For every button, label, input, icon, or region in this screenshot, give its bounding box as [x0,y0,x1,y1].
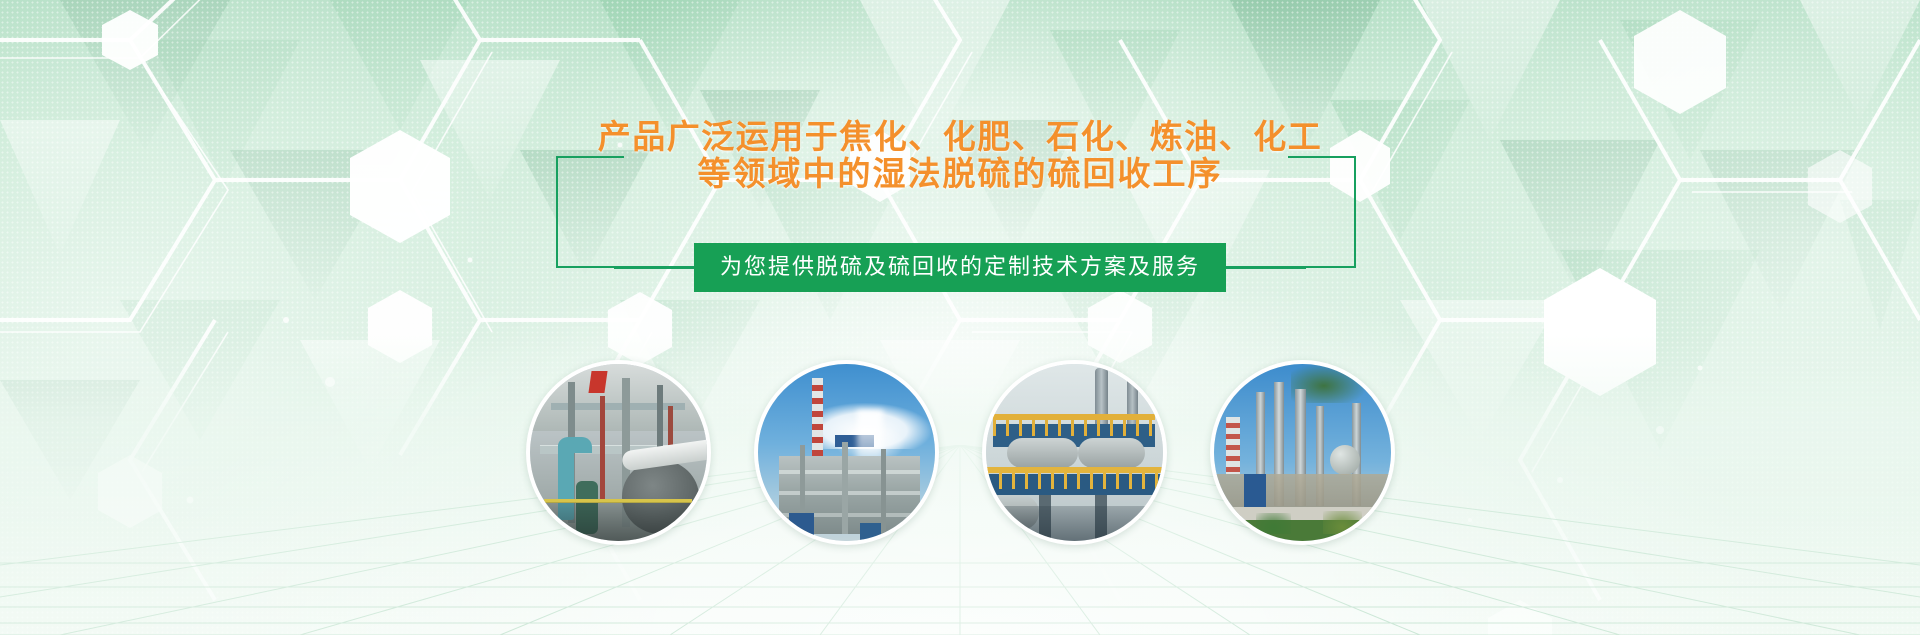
photo-circle-sulfur-recovery-stack[interactable] [754,360,939,545]
photo-scene-2 [758,364,935,541]
ribbon-left-rule [614,267,694,269]
photo-circle-pressure-vessel-platform[interactable] [982,360,1167,545]
ribbon-right-rule [1226,267,1306,269]
banner-content: 产品广泛运用于焦化、化肥、石化、炼油、化工 等领域中的湿法脱硫的硫回收工序 为您… [0,0,1920,635]
photo-circle-desulfurization-pipe-rack[interactable] [526,360,711,545]
subtitle-ribbon-row: 为您提供脱硫及硫回收的定制技术方案及服务 [0,243,1920,292]
photo-circle-row [0,360,1920,545]
red-flag-icon [588,371,607,393]
photo-scene-3 [986,364,1163,541]
photo-scene-4 [1214,364,1391,541]
headline-line-2: 等领域中的湿法脱硫的硫回收工序 [0,155,1920,192]
hero-banner: 产品广泛运用于焦化、化肥、石化、炼油、化工 等领域中的湿法脱硫的硫回收工序 为您… [0,0,1920,635]
headline: 产品广泛运用于焦化、化肥、石化、炼油、化工 等领域中的湿法脱硫的硫回收工序 [0,118,1920,192]
subtitle-ribbon: 为您提供脱硫及硫回收的定制技术方案及服务 [694,243,1226,292]
photo-circle-refinery-distillation-towers[interactable] [1210,360,1395,545]
headline-line-1: 产品广泛运用于焦化、化肥、石化、炼油、化工 [0,118,1920,155]
photo-scene-1 [530,364,707,541]
